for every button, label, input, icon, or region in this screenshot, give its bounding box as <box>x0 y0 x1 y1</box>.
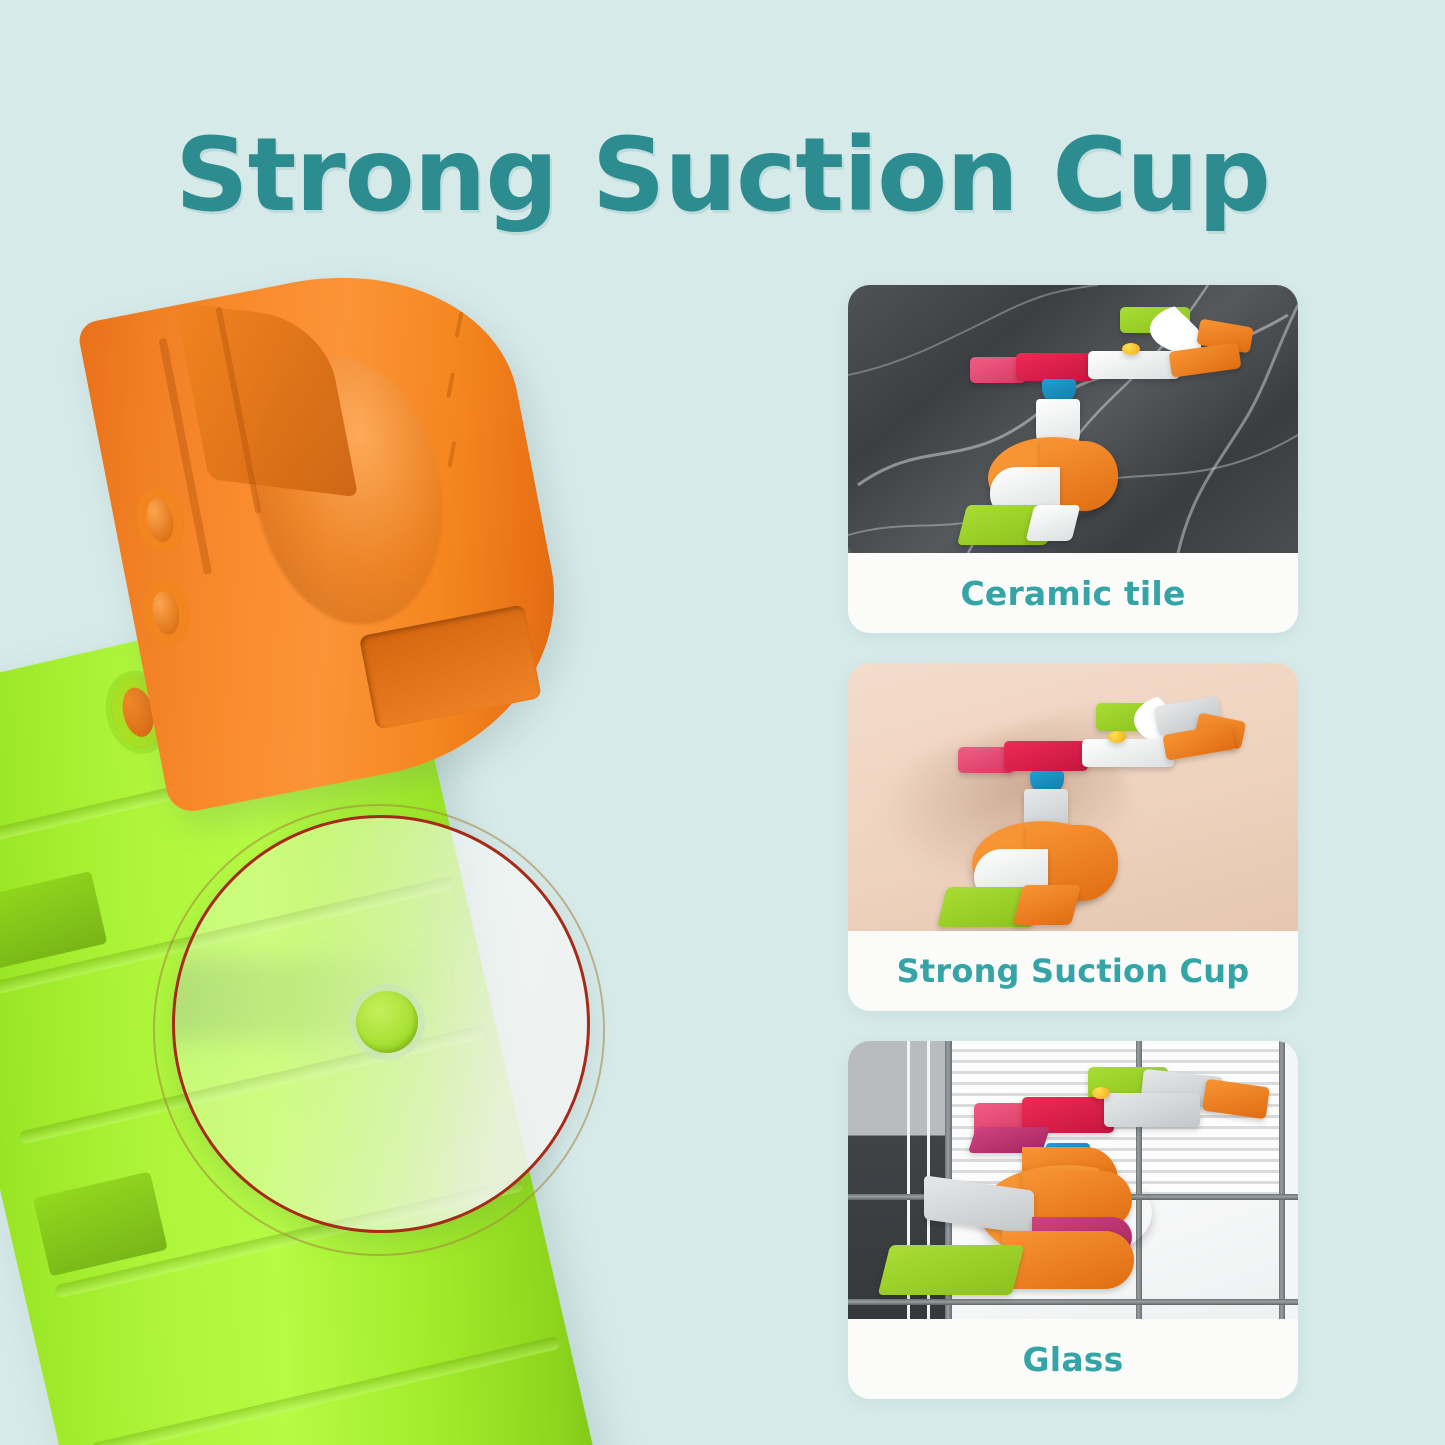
surface-cards-list: Ceramic tile <box>848 285 1298 1429</box>
card-caption-strong-suction-cup: Strong Suction Cup <box>848 931 1298 1011</box>
surface-card-strong-suction-cup[interactable]: Strong Suction Cup <box>848 663 1298 1011</box>
suction-cup-center-nub <box>356 991 418 1053</box>
suction-cup-disc <box>172 815 590 1233</box>
strong-suction-cup-photo <box>848 663 1298 931</box>
glass-photo <box>848 1041 1298 1319</box>
page-title: Strong Suction Cup <box>0 122 1445 229</box>
hero-product-photo <box>0 260 820 1445</box>
surface-card-glass[interactable]: Glass <box>848 1041 1298 1399</box>
surface-card-ceramic-tile[interactable]: Ceramic tile <box>848 285 1298 633</box>
card-caption-ceramic-tile: Ceramic tile <box>848 553 1298 633</box>
card-caption-glass: Glass <box>848 1319 1298 1399</box>
ceramic-tile-photo <box>848 285 1298 553</box>
